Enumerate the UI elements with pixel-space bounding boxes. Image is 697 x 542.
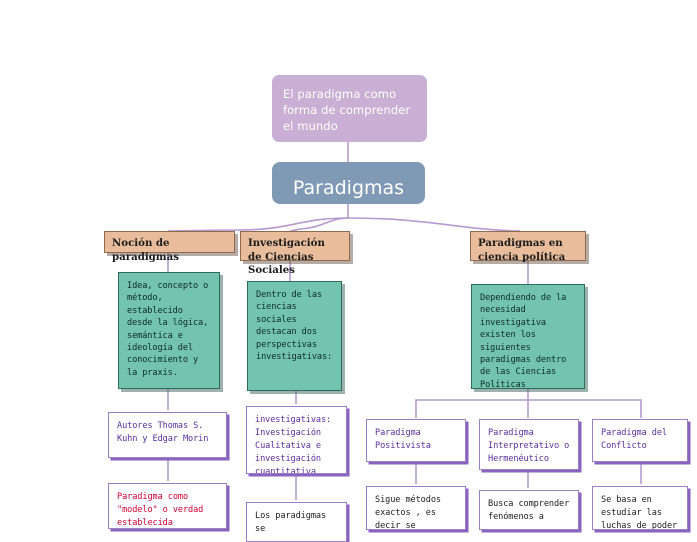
branch2-header-label: Investigación de Ciencias Sociales: [248, 237, 325, 276]
branch2-detail[interactable]: Dentro de las ciencias sociales destacan…: [247, 281, 342, 391]
branch3-detail-text: Dependiendo de la necesidad investigativ…: [480, 293, 566, 390]
branch2-leaf-paradigms-text: Los paradigmas se: [255, 511, 326, 534]
branch3-body-interpretativo[interactable]: Busca comprender fenómenos a: [479, 490, 579, 530]
branch3-body-interpretativo-text: Busca comprender fenómenos a: [488, 499, 569, 522]
branch1-header-label: Noción de paradigmas: [112, 237, 179, 263]
branch3-body-positivista[interactable]: Sigue métodos exactos , es decir se: [366, 486, 466, 530]
title-node[interactable]: Paradigmas: [272, 162, 425, 204]
edge-title-to-branch1: [168, 218, 348, 231]
branch1-header[interactable]: Noción de paradigmas: [104, 231, 235, 253]
branch3-leaf-conflicto[interactable]: Paradigma del Conflicto: [592, 419, 688, 462]
title-node-label: Paradigmas: [293, 177, 404, 199]
branch3-body-conflicto[interactable]: Se basa en estudiar las luchas de poder: [592, 486, 688, 530]
edge-b3-to-leaf3: [528, 400, 641, 418]
branch3-header[interactable]: Paradigmas en ciencia política: [470, 231, 586, 261]
branch1-detail-text: Idea, concepto o método, establecido des…: [127, 281, 208, 378]
branch3-leaf-conflicto-text: Paradigma del Conflicto: [601, 428, 667, 451]
branch2-leaf-perspectives-text: investigativas: Investigación Cualitativ…: [255, 415, 331, 474]
branch1-leaf-authors[interactable]: Autores Thomas S. Kuhn y Edgar Morin: [108, 412, 227, 458]
mindmap-canvas: El paradigma como forma de comprender el…: [0, 0, 697, 520]
branch1-detail[interactable]: Idea, concepto o método, establecido des…: [118, 272, 220, 389]
edge-title-to-branch3: [348, 218, 520, 231]
branch3-leaf-interpretativo[interactable]: Paradigma Interpretativo o Hermenéutico: [479, 419, 579, 470]
branch3-body-conflicto-text: Se basa en estudiar las luchas de poder: [601, 495, 677, 530]
branch3-header-label: Paradigmas en ciencia política: [478, 237, 565, 263]
branch2-leaf-paradigms[interactable]: Los paradigmas se: [246, 502, 347, 542]
branch1-leaf-model[interactable]: Paradigma como "modelo" o verdad estable…: [108, 483, 227, 529]
branch3-body-positivista-text: Sigue métodos exactos , es decir se: [375, 495, 441, 530]
branch2-detail-text: Dentro de las ciencias sociales destacan…: [256, 290, 332, 362]
branch3-leaf-positivista[interactable]: Paradigma Positivista: [366, 419, 466, 462]
branch2-leaf-perspectives[interactable]: investigativas: Investigación Cualitativ…: [246, 406, 347, 474]
root-node-label: El paradigma como forma de comprender el…: [283, 87, 410, 133]
edge-title-to-branch2: [290, 218, 348, 231]
branch2-header[interactable]: Investigación de Ciencias Sociales: [240, 231, 350, 261]
branch1-leaf-authors-text: Autores Thomas S. Kuhn y Edgar Morin: [117, 421, 208, 444]
branch3-detail[interactable]: Dependiendo de la necesidad investigativ…: [471, 284, 585, 389]
branch3-leaf-positivista-text: Paradigma Positivista: [375, 428, 431, 451]
edge-b3-to-leaf1: [416, 400, 528, 418]
root-node[interactable]: El paradigma como forma de comprender el…: [272, 75, 427, 142]
branch3-leaf-interpretativo-text: Paradigma Interpretativo o Hermenéutico: [488, 428, 569, 464]
branch1-leaf-model-text: Paradigma como "modelo" o verdad estable…: [117, 492, 203, 528]
